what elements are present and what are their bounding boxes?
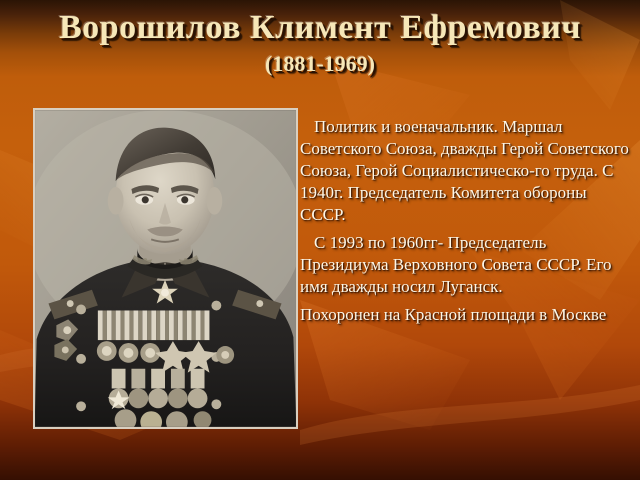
biography-paragraph-1: Политик и военачальник. Маршал Советског… [300, 116, 630, 226]
page-title: Ворошилов Климент Ефремович [0, 8, 640, 48]
biography-text: Политик и военачальник. Маршал Советског… [300, 116, 630, 332]
biography-paragraph-2: С 1993 по 1960гг- Председатель Президиум… [300, 232, 630, 298]
slide-header: Ворошилов Климент Ефремович (1881-1969) [0, 8, 640, 78]
biography-paragraph-3: Похоронен на Красной площади в Москве [300, 304, 630, 326]
presentation-slide: Ворошилов Климент Ефремович (1881-1969) [0, 0, 640, 480]
portrait-photo [33, 108, 298, 429]
page-subtitle: (1881-1969) [0, 50, 640, 78]
